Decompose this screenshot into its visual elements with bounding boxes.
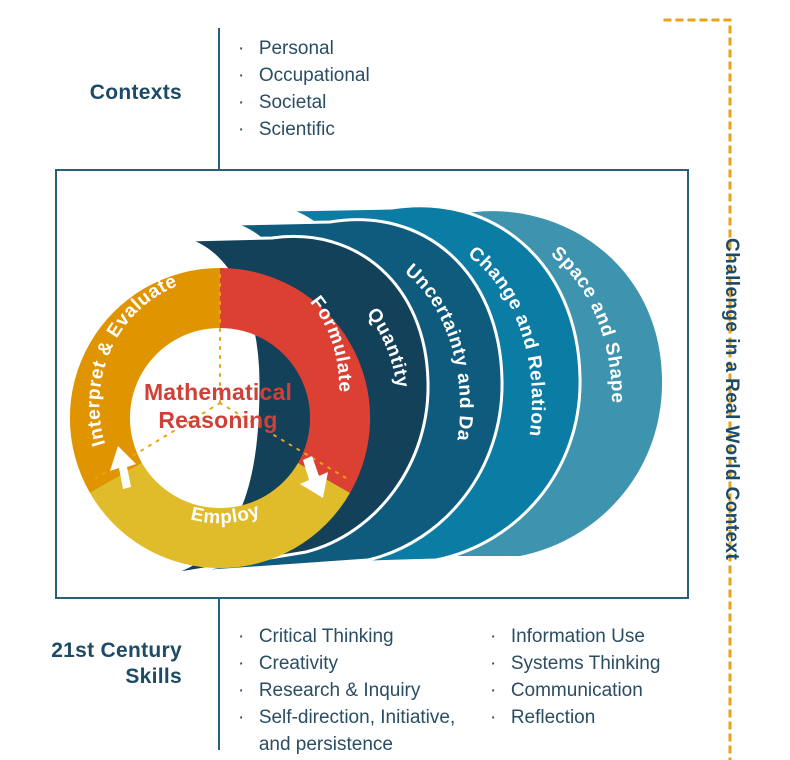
list-item-label: Occupational bbox=[250, 63, 370, 90]
list-item: · Critical Thinking bbox=[238, 624, 455, 651]
list-item: · Research & Inquiry bbox=[238, 678, 455, 705]
list-item-label: Scientific bbox=[250, 117, 335, 144]
bullet-icon: · bbox=[490, 680, 497, 701]
list-item: · Personal bbox=[238, 36, 370, 63]
bullet-icon: · bbox=[238, 653, 245, 674]
list-item-label: Critical Thinking bbox=[250, 624, 394, 651]
list-item-label: Societal bbox=[250, 90, 327, 117]
challenge-caption: Challenge in a Real World Context bbox=[720, 238, 742, 528]
list-item-continuation: · and persistence bbox=[238, 732, 455, 759]
bullet-icon: · bbox=[490, 707, 497, 728]
list-item-label: Personal bbox=[250, 36, 334, 63]
skills-heading: 21st Century Skills bbox=[20, 638, 182, 689]
bullet-icon: · bbox=[238, 626, 245, 647]
list-item-label: Creativity bbox=[250, 651, 338, 678]
bullet-icon: · bbox=[238, 119, 245, 140]
bullet-icon: · bbox=[490, 653, 497, 674]
list-item-label: Information Use bbox=[502, 624, 645, 651]
contexts-heading: Contexts bbox=[20, 80, 182, 106]
core-label-line1: Mathematical bbox=[118, 378, 318, 406]
list-item-label: Research & Inquiry bbox=[250, 678, 421, 705]
core-label: Mathematical Reasoning bbox=[118, 378, 318, 434]
list-item: · Self-direction, Initiative, bbox=[238, 705, 455, 732]
list-item: · Creativity bbox=[238, 651, 455, 678]
list-item: · Scientific bbox=[238, 117, 370, 144]
skills-heading-line2: Skills bbox=[20, 664, 182, 690]
bullet-icon: · bbox=[238, 92, 245, 113]
list-item: · Communication bbox=[490, 678, 660, 705]
bullet-icon: · bbox=[490, 626, 497, 647]
list-item: · Societal bbox=[238, 90, 370, 117]
list-item-label: Reflection bbox=[502, 705, 596, 732]
list-item: · Occupational bbox=[238, 63, 370, 90]
skills-divider bbox=[218, 598, 220, 750]
list-item: · Reflection bbox=[490, 705, 660, 732]
list-item-label: and persistence bbox=[250, 732, 393, 759]
skills-list-right: · Information Use · Systems Thinking · C… bbox=[490, 624, 660, 732]
list-item-label: Communication bbox=[502, 678, 643, 705]
list-item: · Information Use bbox=[490, 624, 660, 651]
contexts-list: · Personal · Occupational · Societal · S… bbox=[238, 36, 370, 144]
contexts-divider bbox=[218, 28, 220, 170]
diagram-canvas: Space and Shape Change and Relationships… bbox=[0, 0, 790, 760]
bullet-icon: · bbox=[238, 680, 245, 701]
core-label-line2: Reasoning bbox=[118, 406, 318, 434]
list-item-label: Self-direction, Initiative, bbox=[250, 705, 455, 732]
bullet-icon: · bbox=[238, 38, 245, 59]
bullet-icon: · bbox=[238, 65, 245, 86]
list-item: · Systems Thinking bbox=[490, 651, 660, 678]
list-item-label: Systems Thinking bbox=[502, 651, 661, 678]
skills-heading-line1: 21st Century bbox=[20, 638, 182, 664]
skills-list-left: · Critical Thinking · Creativity · Resea… bbox=[238, 624, 455, 759]
bullet-icon: · bbox=[238, 707, 245, 728]
